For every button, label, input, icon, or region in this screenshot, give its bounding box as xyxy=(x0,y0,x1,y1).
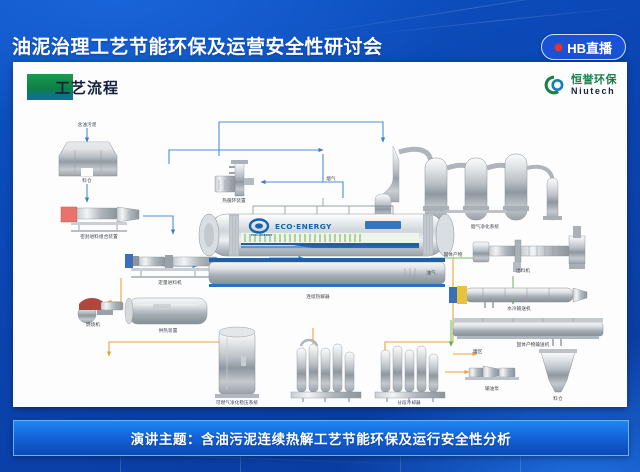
live-badge-label: HB直播 xyxy=(567,38,612,57)
svg-text:ECO·ENERGY: ECO·ENERGY xyxy=(275,222,332,231)
node-label-reactor: 连续热解器 xyxy=(306,294,329,300)
node-label-flue-gas: 烟气 xyxy=(326,176,335,182)
section-title: 工艺流程 xyxy=(55,77,119,98)
node-label-seal-feeder: 密封进料组合装置 xyxy=(80,234,118,240)
footer-topic-text: 演讲主题：含油污泥连续热解工艺节能环保及运行安全性分析 xyxy=(131,428,512,448)
node-label-tank-farm: 罐区 xyxy=(473,349,482,355)
node-label-hopper: 料仓 xyxy=(82,178,91,184)
node-label-stage-cooler: 分段冷却器 xyxy=(397,400,420,406)
slide-header: 工艺流程 恒誉环保 Niutech xyxy=(13,62,627,106)
slide-footer: 演讲主题：含油污泥连续热解工艺节能环保及运行安全性分析 xyxy=(13,420,629,456)
record-dot-icon xyxy=(555,44,562,51)
deck-title: 油泥治理工艺节能环保及运营安全性研讨会 xyxy=(12,32,383,59)
process-flow-diagram: ECO·ENERGY ECO-ENERGY xyxy=(13,106,627,407)
node-label-dosing-feeder: 定量进料机 xyxy=(158,280,181,286)
slide-stage: 油泥治理工艺节能环保及运营安全性研讨会 HB直播 工艺流程 恒誉环保 Ni xyxy=(0,0,640,472)
node-label-silo: 料仓 xyxy=(553,396,562,402)
node-label-water-conveyor: 水冷输送机 xyxy=(507,306,530,312)
company-logo: 恒誉环保 Niutech xyxy=(542,73,617,97)
node-label-oil-pump: 输油泵 xyxy=(485,386,499,392)
svg-text:ECO-ENERGY: ECO-ENERGY xyxy=(251,233,273,237)
live-badge[interactable]: HB直播 xyxy=(541,34,626,60)
node-label-gas-clean: 可燃气净化稳压系统 xyxy=(216,400,258,406)
node-label-heat-supply: 供热装置 xyxy=(159,328,178,334)
node-label-oil-gas: 油气 xyxy=(426,270,435,276)
node-label-flue-clean: 烟气净化系统 xyxy=(471,224,499,230)
logo-cn-text: 恒誉环保 xyxy=(571,75,617,86)
deck-header: 油泥治理工艺节能环保及运营安全性研讨会 HB直播 xyxy=(0,14,640,58)
node-label-heat-cycle: 热循环装置 xyxy=(222,198,245,204)
node-label-solid-product: 固体产物 xyxy=(444,252,463,258)
logo-en-text: Niutech xyxy=(571,86,617,96)
node-label-feed-in: 含油污泥 xyxy=(78,122,97,128)
niutech-mark-icon xyxy=(542,73,566,97)
node-label-solid-conveyor: 固体产物输送机 xyxy=(517,342,550,348)
node-label-burner: 燃烧机 xyxy=(86,322,100,328)
node-label-discharger: 出料机 xyxy=(516,268,530,274)
slide-body: 工艺流程 恒誉环保 Niutech xyxy=(13,62,627,407)
